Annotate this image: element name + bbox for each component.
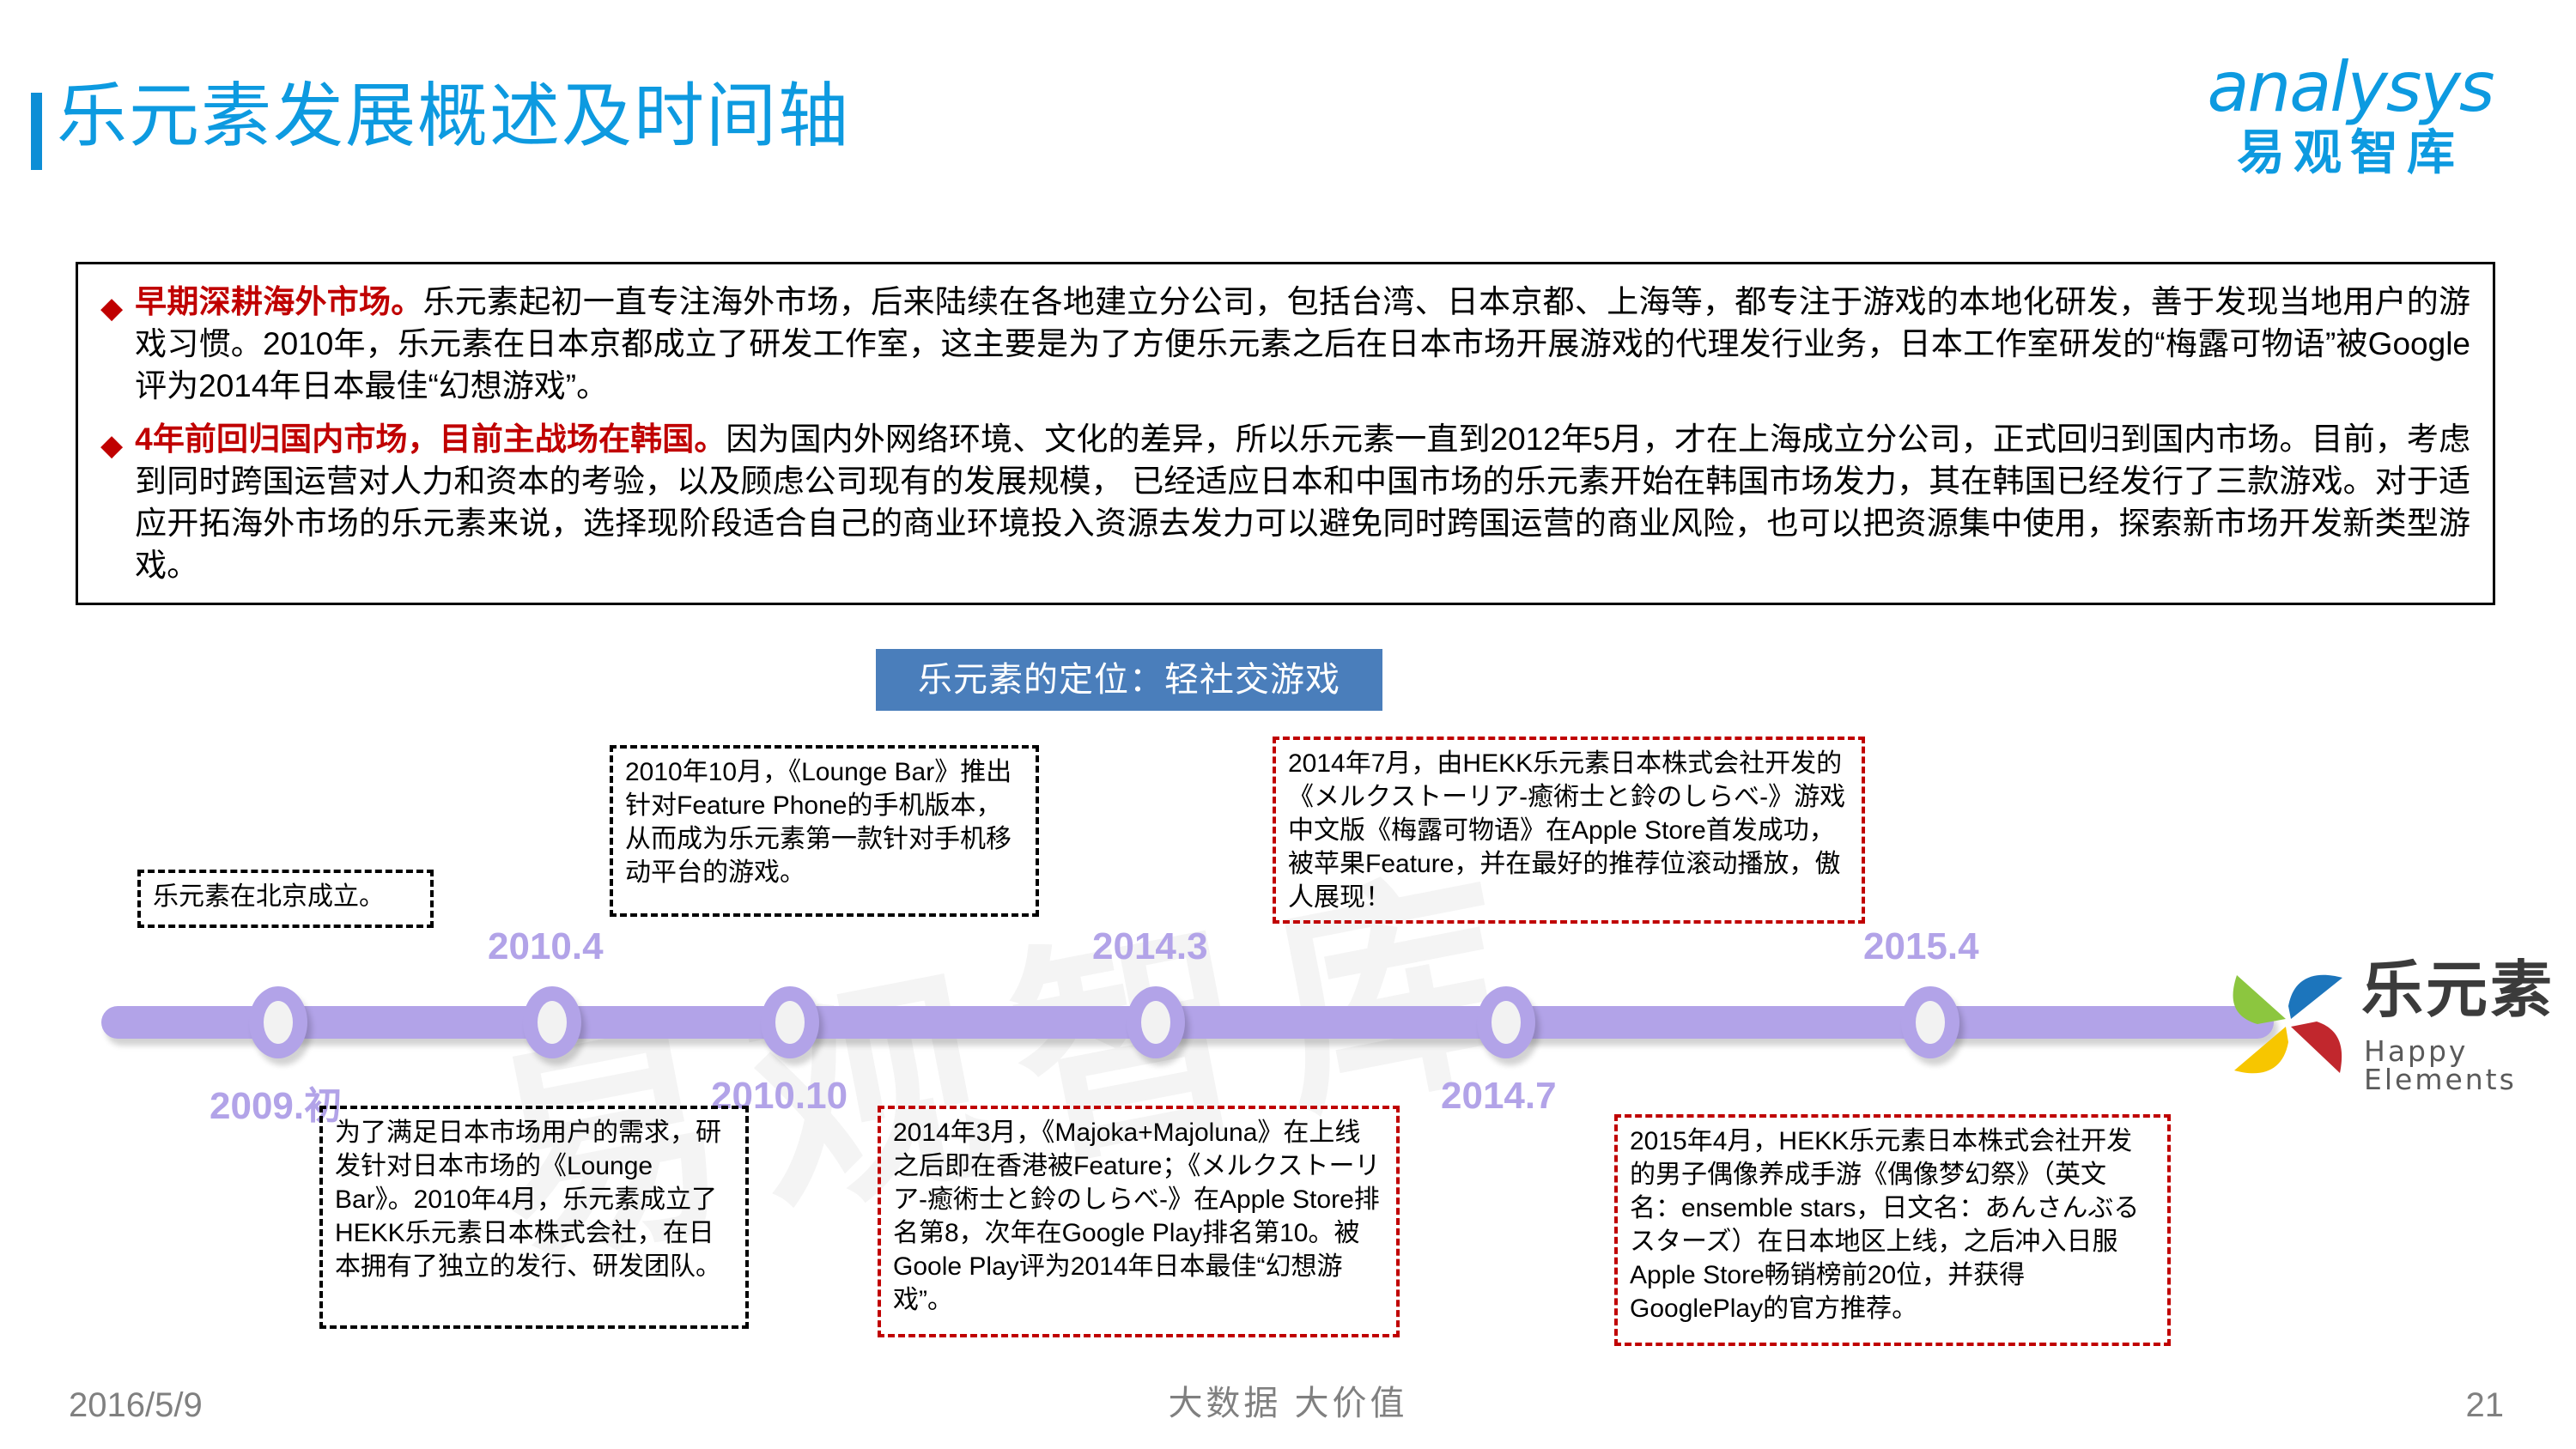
analysys-logo-cn: 易观智库 bbox=[2166, 125, 2535, 180]
timeline-year-2014-7: 2014.7 bbox=[1441, 1075, 1557, 1118]
timeline-node-2010-10[interactable] bbox=[761, 986, 819, 1058]
timeline-node-2014-7[interactable] bbox=[1477, 986, 1535, 1058]
timeline-node-2009[interactable] bbox=[249, 986, 307, 1058]
happy-elements-logo-en: Happy Elements bbox=[2364, 1037, 2567, 1094]
callout-2014-3: 2014年3月，《Majoka+Majoluna》在上线之后即在香港被Featu… bbox=[878, 1106, 1400, 1337]
summary-paragraph-text: 早期深耕海外市场。乐元素起初一直专注海外市场，后来陆续在各地建立分公司，包括台湾… bbox=[135, 282, 2470, 407]
timeline-year-2010-4: 2010.4 bbox=[488, 925, 604, 968]
summary-paragraph-body: 乐元素起初一直专注海外市场，后来陆续在各地建立分公司，包括台湾、日本京都、上海等… bbox=[135, 284, 2470, 403]
analysys-logo: analysys 易观智库 bbox=[2166, 53, 2535, 191]
timeline-year-2015-4: 2015.4 bbox=[1863, 925, 1979, 968]
callout-2010-4: 为了满足日本市场用户的需求，研发针对日本市场的《Lounge Bar》。2010… bbox=[319, 1106, 749, 1329]
footer-page-number: 21 bbox=[2466, 1386, 2505, 1425]
callout-2009: 乐元素在北京成立。 bbox=[137, 870, 434, 928]
happy-elements-logo: 乐元素 Happy Elements bbox=[2224, 953, 2567, 1107]
summary-paragraph-text: 4年前回归国内市场，目前主战场在韩国。因为国内外网络环境、文化的差异，所以乐元素… bbox=[135, 419, 2470, 586]
timeline-node-2014-3[interactable] bbox=[1127, 986, 1185, 1058]
footer-tagline: 大数据 大价值 bbox=[0, 1375, 2576, 1425]
timeline-year-2014-3: 2014.3 bbox=[1092, 925, 1208, 968]
positioning-banner: 乐元素的定位：轻社交游戏 bbox=[876, 649, 1382, 711]
diamond-bullet-icon: ◆ bbox=[100, 294, 123, 323]
page-title: 乐元素发展概述及时间轴 bbox=[57, 79, 850, 155]
summary-text-box: ◆ 早期深耕海外市场。乐元素起初一直专注海外市场，后来陆续在各地建立分公司，包括… bbox=[76, 262, 2495, 605]
summary-paragraph: ◆ 早期深耕海外市场。乐元素起初一直专注海外市场，后来陆续在各地建立分公司，包括… bbox=[100, 282, 2470, 407]
happy-elements-pinwheel-icon bbox=[2224, 960, 2353, 1088]
diamond-bullet-icon: ◆ bbox=[100, 431, 123, 460]
summary-paragraph-highlight: 4年前回归国内市场，目前主战场在韩国。 bbox=[135, 421, 726, 457]
summary-paragraph-highlight: 早期深耕海外市场。 bbox=[135, 284, 422, 319]
analysys-logo-en: analysys bbox=[2166, 53, 2535, 122]
timeline-node-2015-4[interactable] bbox=[1901, 986, 1959, 1058]
callout-2014-7: 2014年7月，由HEKK乐元素日本株式会社开发的《メルクストーリア-癒術士と鈴… bbox=[1273, 737, 1865, 924]
timeline-node-2010-4[interactable] bbox=[523, 986, 581, 1058]
title-accent-bar bbox=[31, 93, 42, 170]
callout-2015-4: 2015年4月，HEKK乐元素日本株式会社开发的男子偶像养成手游《偶像梦幻祭》（… bbox=[1614, 1114, 2171, 1346]
callout-2010-10: 2010年10月，《Lounge Bar》推出针对Feature Phone的手… bbox=[610, 745, 1039, 917]
happy-elements-logo-cn: 乐元素 bbox=[2361, 960, 2555, 1022]
slide-canvas: 乐元素发展概述及时间轴 analysys 易观智库 ◆ 早期深耕海外市场。乐元素… bbox=[0, 0, 2576, 1449]
summary-paragraph: ◆ 4年前回归国内市场，目前主战场在韩国。因为国内外网络环境、文化的差异，所以乐… bbox=[100, 419, 2470, 586]
